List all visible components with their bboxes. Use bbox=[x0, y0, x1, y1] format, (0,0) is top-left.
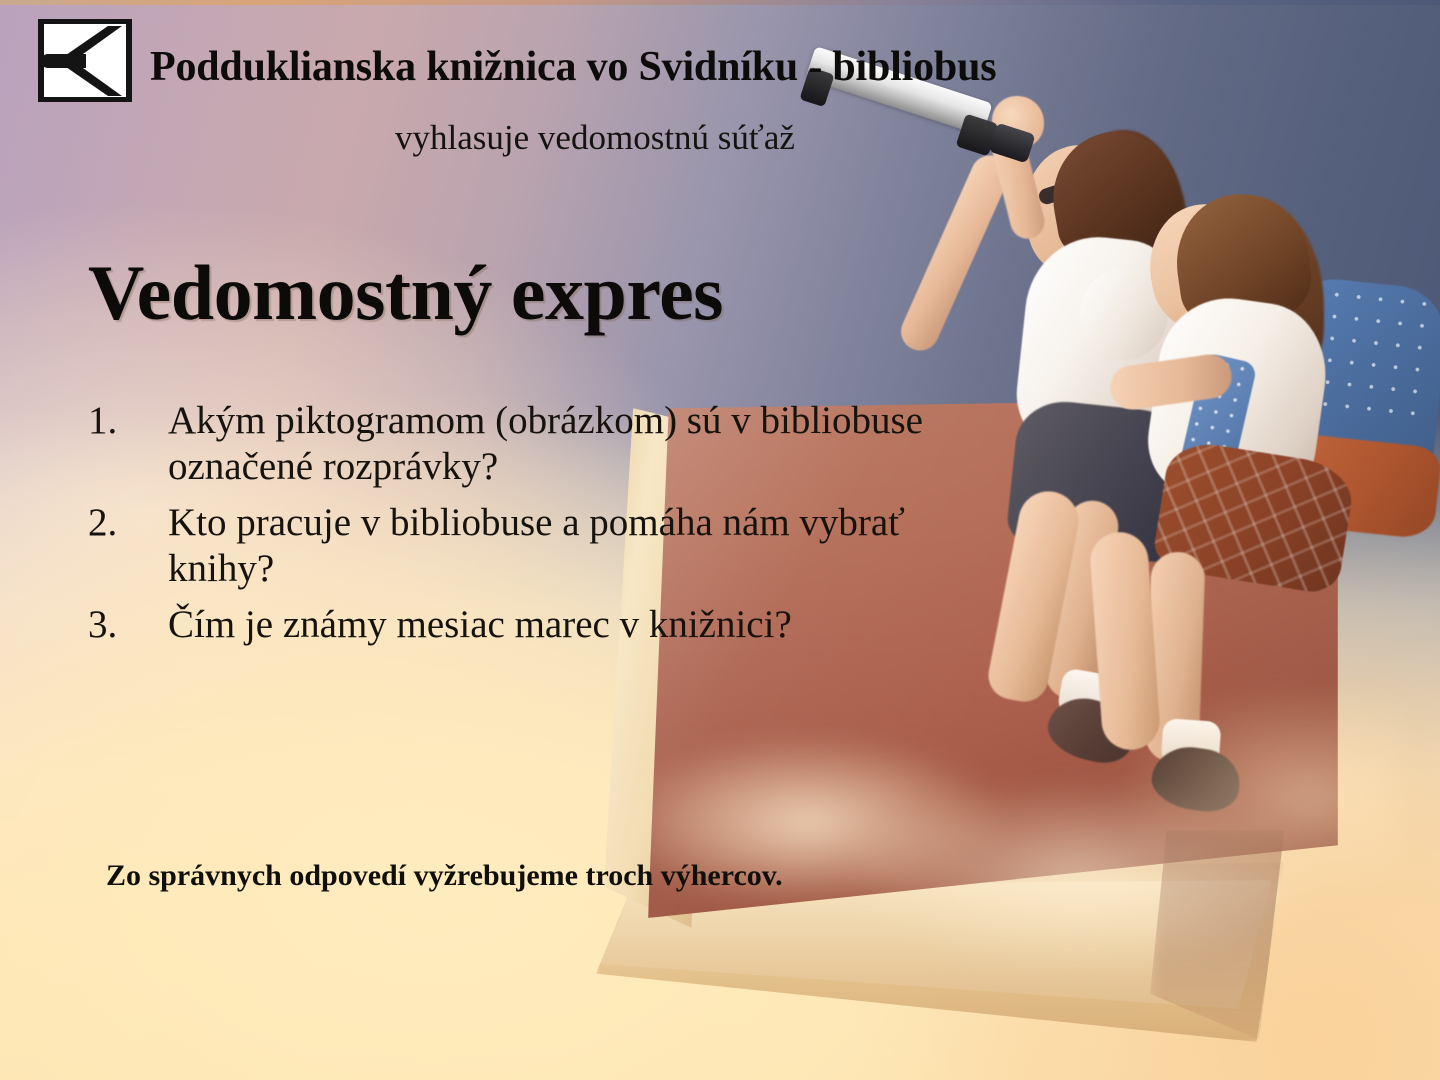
top-edge-stripe bbox=[0, 0, 1440, 5]
prize-note: Zo správnych odpovedí vyžrebujeme troch … bbox=[106, 859, 783, 893]
list-item-number: 2. bbox=[88, 500, 168, 546]
list-item: 3. Čím je známy mesiac marec v knižnici? bbox=[88, 602, 968, 648]
list-item: 2. Kto pracuje v bibliobuse a pomáha nám… bbox=[88, 500, 968, 592]
list-item-text: Akým piktogramom (obrázkom) sú v bibliob… bbox=[168, 398, 968, 490]
list-item-text: Kto pracuje v bibliobuse a pomáha nám vy… bbox=[168, 500, 968, 592]
page-title: Vedomostný expres bbox=[88, 248, 723, 338]
sun-flare-bloom bbox=[640, 690, 1400, 990]
list-item-number: 3. bbox=[88, 602, 168, 648]
list-item-number: 1. bbox=[88, 398, 168, 444]
question-list: 1. Akým piktogramom (obrázkom) sú v bibl… bbox=[88, 398, 968, 658]
list-item: 1. Akým piktogramom (obrázkom) sú v bibl… bbox=[88, 398, 968, 490]
organization-title: Podduklianska knižnica vo Svidníku - bib… bbox=[150, 43, 996, 91]
library-logo-icon bbox=[36, 19, 133, 102]
presentation-slide: Podduklianska knižnica vo Svidníku - bib… bbox=[0, 0, 1440, 1080]
announcement-subtitle: vyhlasuje vedomostnú súťaž bbox=[0, 118, 1440, 158]
list-item-text: Čím je známy mesiac marec v knižnici? bbox=[168, 602, 792, 648]
